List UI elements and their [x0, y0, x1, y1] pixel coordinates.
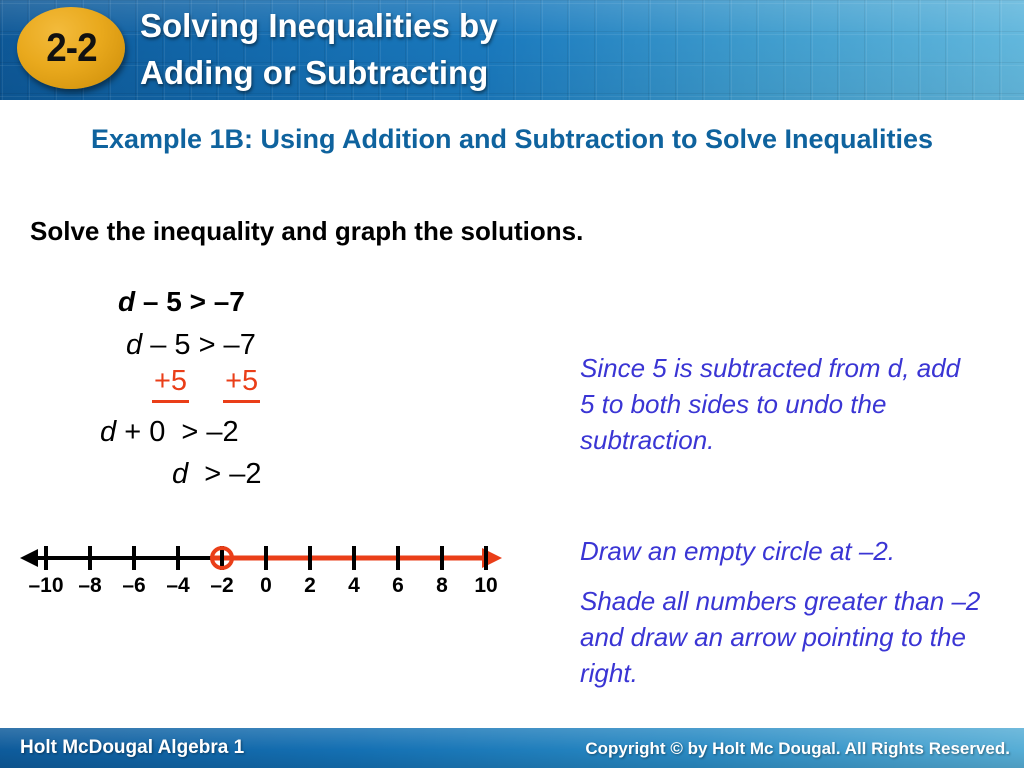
number-line-label: –6 — [122, 574, 145, 598]
explanation-note-2: Draw an empty circle at –2. — [580, 533, 990, 569]
number-line-labels: –10 –8 –6 –4 –2 0 2 4 6 8 10 — [0, 574, 520, 600]
step-2-inequality: d + 0 > –2 — [100, 412, 239, 452]
lesson-number-badge: 2-2 — [17, 7, 125, 89]
instruction-text: Solve the inequality and graph the solut… — [30, 216, 583, 247]
footer-copyright: Copyright © by Holt Mc Dougal. All Right… — [585, 739, 1010, 759]
number-line-label: –10 — [28, 574, 63, 598]
number-line-label: 6 — [392, 574, 404, 598]
step-2-rest: + 0 > –2 — [116, 416, 239, 448]
step-1-variable: d — [126, 329, 142, 361]
number-line-svg — [0, 538, 520, 578]
step-1-rest: – 5 > –7 — [142, 329, 256, 361]
step-2-variable: d — [100, 416, 116, 448]
number-line-label: 8 — [436, 574, 448, 598]
solution-inequality: d > –2 — [172, 454, 262, 494]
number-line-label: 2 — [304, 574, 316, 598]
number-line-label: 0 — [260, 574, 272, 598]
lesson-title-line-1: Solving Inequalities by — [140, 2, 760, 49]
number-line-label: 10 — [474, 574, 497, 598]
number-line-graph: –10 –8 –6 –4 –2 0 2 4 6 8 10 — [0, 538, 520, 616]
lesson-title: Solving Inequalities by Adding or Subtra… — [140, 2, 760, 96]
add-five-right: +5 — [223, 364, 260, 403]
lesson-number-label: 2-2 — [46, 28, 96, 68]
example-heading: Example 1B: Using Addition and Subtracti… — [26, 122, 998, 156]
number-line-label: –4 — [166, 574, 189, 598]
number-line-label: 4 — [348, 574, 360, 598]
header-banner: 2-2 Solving Inequalities by Adding or Su… — [0, 0, 1024, 100]
original-inequality: d – 5 > –7 — [118, 282, 245, 322]
step-1-inequality: d – 5 > –7 — [126, 325, 256, 365]
original-inequality-rest: – 5 > –7 — [135, 286, 245, 317]
left-arrowhead-icon — [20, 549, 38, 567]
explanation-note-1: Since 5 is subtracted from d, add 5 to b… — [580, 350, 970, 458]
solution-rest: > –2 — [188, 458, 261, 490]
number-line-label: –2 — [210, 574, 233, 598]
explanation-note-3: Shade all numbers greater than –2 and dr… — [580, 583, 995, 691]
footer-book-title: Holt McDougal Algebra 1 — [20, 737, 244, 759]
add-five-left: +5 — [152, 364, 189, 403]
add-five-row: +5+5 — [152, 364, 260, 403]
number-line-label: –8 — [78, 574, 101, 598]
solution-variable: d — [172, 458, 188, 490]
original-inequality-variable: d — [118, 286, 135, 317]
lesson-title-line-2: Adding or Subtracting — [140, 49, 760, 96]
footer-bar: Holt McDougal Algebra 1 Copyright © by H… — [0, 728, 1024, 768]
